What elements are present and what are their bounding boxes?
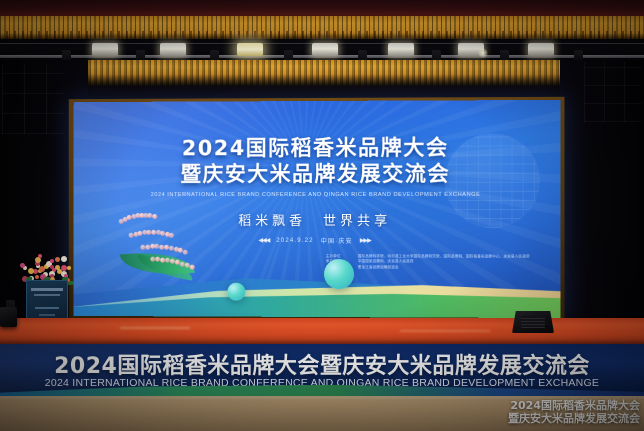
stage-light-icon — [160, 43, 186, 56]
organizer-value: 黑龙江省品牌战略促进会 — [358, 265, 399, 271]
podium-text-line — [31, 288, 63, 291]
stage-light-icon — [92, 43, 118, 56]
watermark-line2: 暨庆安大米品牌发展交流会 — [508, 412, 640, 425]
flower-bloom — [55, 257, 60, 262]
backstage-grid-left — [2, 64, 64, 134]
flower-bloom — [35, 275, 39, 279]
stage-light-icon — [312, 43, 338, 56]
screen-title-line2: 暨庆安大米品牌发展交流会 — [74, 160, 561, 187]
screen-date-location: ◀◀◀ 2024.9.22 中国·庆安 ▶▶▶ — [74, 236, 561, 246]
screen-title-block: 2024国际稻香米品牌大会 暨庆安大米品牌发展交流会 2024 INTERNAT… — [74, 134, 561, 245]
event-location: 中国·庆安 — [321, 236, 353, 245]
arrow-left-icon: ◀◀◀ — [259, 237, 270, 244]
led-screen: 2024国际稻香米品牌大会 暨庆安大米品牌发展交流会 2024 INTERNAT… — [74, 100, 561, 318]
stage-light-icon — [388, 43, 414, 56]
watermark-line1: 2024国际稻香米品牌大会 — [508, 399, 640, 412]
light-flare — [478, 48, 488, 58]
stage-light-icon — [237, 43, 263, 56]
screen-subtitle-en: 2024 INTERNATIONAL RICE BRAND CONFERENCE… — [74, 192, 561, 198]
speaker-grille — [521, 316, 545, 328]
curtain-scallop — [0, 31, 644, 39]
stage-monitor-speaker — [0, 307, 17, 327]
flower-leaf — [68, 281, 74, 285]
flower-bloom — [61, 256, 67, 262]
watermark: 2024国际稻香米品牌大会 暨庆安大米品牌发展交流会 — [508, 399, 640, 425]
event-date: 2024.9.22 — [276, 237, 313, 243]
flower-bloom — [20, 263, 25, 268]
stage-highlight — [400, 330, 490, 332]
sphere-graphic — [227, 283, 245, 301]
flower-bloom — [35, 257, 41, 263]
rice-grain — [183, 250, 188, 255]
flower-bloom — [50, 259, 54, 263]
lighting-truss — [0, 39, 644, 61]
rice-grain — [190, 264, 195, 269]
gold-curtain-upper — [0, 16, 644, 40]
stage-monitor-speaker — [512, 311, 554, 333]
organizer-list: 主办单位 国际品牌科学院、哈尔滨工业大学国际品牌研究院、国际品牌网、国际稻香米品… — [326, 254, 530, 271]
conference-stage-photo: 2024国际稻香米品牌大会 暨庆安大米品牌发展交流会 2024 INTERNAT… — [0, 0, 644, 431]
screen-slogan: 稻米飘香 世界共享 — [74, 210, 561, 229]
bottom-banner: 2024国际稻香米品牌大会暨庆安大米品牌发展交流会 2024 INTERNATI… — [0, 344, 644, 398]
flower-bloom — [55, 265, 60, 270]
gold-curtain-lower — [0, 60, 644, 86]
flower-bloom — [28, 268, 34, 274]
podium-text-line — [39, 314, 55, 316]
flower-bloom — [67, 266, 71, 270]
podium-text-line — [35, 307, 59, 309]
organizer-row: 支持单位 黑龙江省品牌战略促进会 — [326, 265, 530, 271]
stage-light-icon — [528, 43, 554, 56]
backstage-grid-right — [584, 62, 642, 122]
stage-highlight — [120, 327, 190, 329]
podium-text-line — [34, 294, 60, 296]
banner-title-cn: 2024国际稻香米品牌大会暨庆安大米品牌发展交流会 — [0, 348, 644, 380]
screen-title-line1: 2024国际稻香米品牌大会 — [74, 134, 561, 161]
flower-bloom — [38, 254, 42, 258]
arrow-right-icon: ▶▶▶ — [360, 237, 371, 244]
